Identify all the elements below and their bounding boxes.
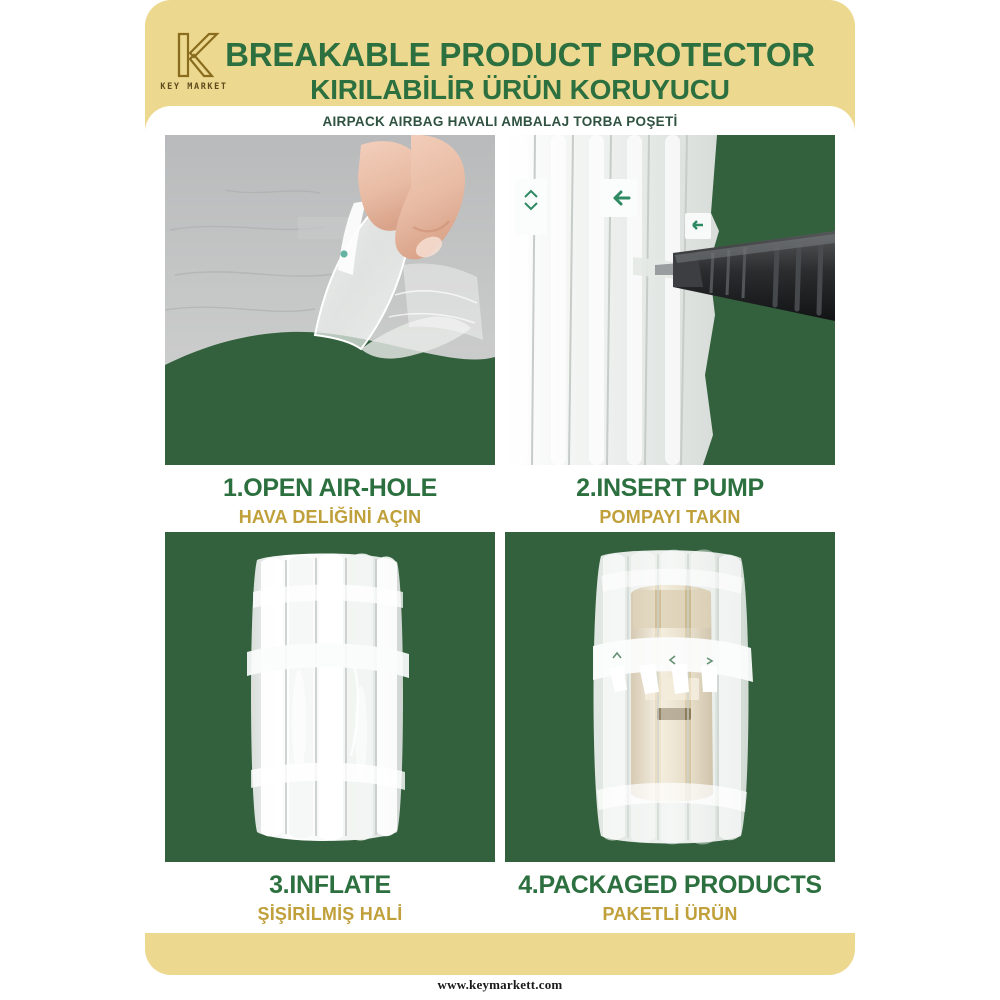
website-url[interactable]: www.keymarkett.com: [0, 977, 1000, 993]
footer-corner-notch-left: [145, 907, 171, 933]
step-2-caption-tr: POMPAYI TAKIN: [505, 507, 835, 528]
page-subtitle: AIRPACK AIRBAG HAVALI AMBALAJ TORBA POŞE…: [145, 114, 855, 129]
step-3-caption-tr: ŞİŞİRİLMİŞ HALİ: [165, 904, 495, 925]
step-photo-3: [165, 532, 495, 862]
step-1-caption-en: 1.OPEN AIR-HOLE: [165, 474, 495, 503]
page-title-en: BREAKABLE PRODUCT PROTECTOR: [200, 36, 840, 74]
footer-corner-notch-right: [829, 907, 855, 933]
photo-packaged-products-illustration: [505, 532, 835, 862]
page-title-tr: KIRILABİLİR ÜRÜN KORUYUCU: [200, 74, 840, 106]
step-photo-2: [505, 135, 835, 465]
step-4-caption-en: 4.PACKAGED PRODUCTS: [495, 871, 845, 900]
step-photo-4: [505, 532, 835, 862]
footer-panel: [145, 933, 855, 975]
step-photo-1: [165, 135, 495, 465]
step-3-caption-en: 3.INFLATE: [165, 871, 495, 900]
step-2-caption-en: 2.INSERT PUMP: [505, 474, 835, 503]
photo-open-air-hole-illustration: [165, 135, 495, 465]
photo-insert-pump-illustration: [505, 135, 835, 465]
step-1-caption-tr: HAVA DELİĞİNİ AÇIN: [165, 507, 495, 528]
step-4-caption-tr: PAKETLİ ÜRÜN: [505, 904, 835, 925]
photo-inflate-illustration: [165, 532, 495, 862]
